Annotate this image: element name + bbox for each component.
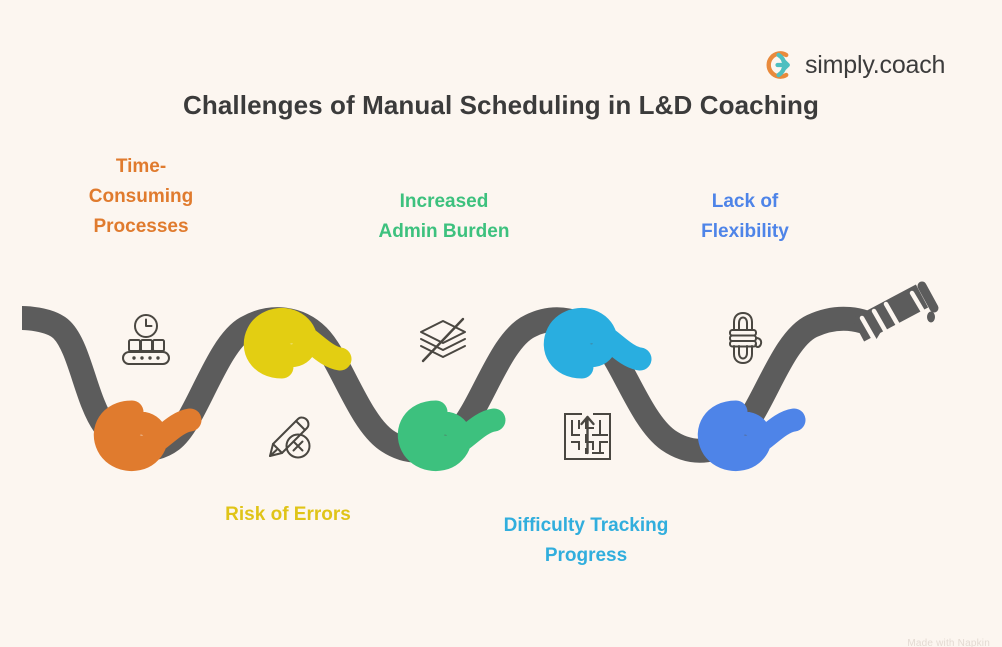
stacked-papers-crossed-out-icon bbox=[415, 313, 471, 367]
watermark: Made with Napkin bbox=[907, 638, 990, 647]
pencil-error-cross-icon bbox=[262, 410, 316, 464]
label-difficulty-tracking-progress: Difficulty Tracking Progress bbox=[466, 511, 706, 571]
label-time-consuming-processes: Time- Consuming Processes bbox=[55, 152, 227, 242]
knot-lack-of-flexibility bbox=[709, 412, 794, 460]
knot-difficulty-tracking-progress bbox=[555, 319, 640, 367]
knot-risk-of-errors bbox=[255, 319, 340, 367]
clock-conveyor-belt-icon bbox=[117, 310, 175, 368]
label-increased-admin-burden: Increased Admin Burden bbox=[348, 187, 540, 247]
rope-frayed-end bbox=[858, 286, 935, 346]
coiled-rope-icon bbox=[718, 310, 768, 366]
infographic-canvas: simply.coach Challenges of Manual Schedu… bbox=[0, 0, 1002, 647]
knot-increased-admin-burden bbox=[409, 412, 494, 460]
knot-time-consuming bbox=[105, 412, 190, 460]
label-risk-of-errors: Risk of Errors bbox=[188, 500, 388, 530]
label-lack-of-flexibility: Lack of Flexibility bbox=[664, 187, 826, 247]
maze-arrow-icon bbox=[560, 409, 615, 464]
